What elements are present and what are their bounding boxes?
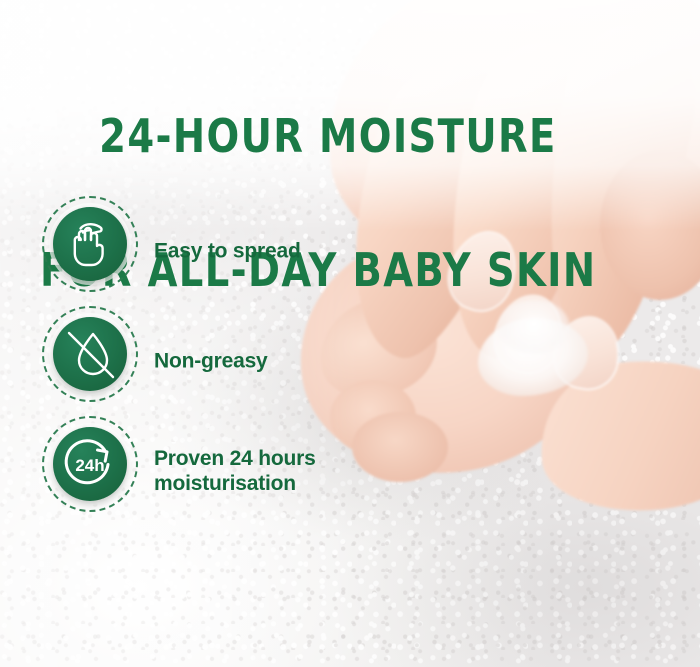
benefit-badge: 24h	[42, 416, 138, 512]
hand-spreading-cream-icon	[53, 207, 127, 281]
droplet-crossed-out-icon	[53, 317, 127, 391]
benefit-item-easy-to-spread: Easy to spread	[42, 196, 402, 306]
benefit-item-proven-24-hours: 24h Proven 24 hours moisturisation	[42, 416, 402, 526]
badge-24h-text: 24h	[75, 456, 104, 475]
benefit-badge	[42, 306, 138, 402]
benefit-badge	[42, 196, 138, 292]
benefit-item-non-greasy: Non-greasy	[42, 306, 402, 416]
benefit-label: Non-greasy	[154, 349, 268, 374]
benefit-label: Proven 24 hours moisturisation	[154, 446, 316, 496]
benefit-list: Easy to spread Non-greasy	[42, 196, 402, 526]
benefit-label: Easy to spread	[154, 239, 301, 264]
headline-line-1: 24-HOUR MOISTURE	[99, 109, 557, 163]
promotional-banner: 24-HOUR MOISTURE FOR ALL-DAY BABY SKIN	[0, 0, 700, 667]
clock-arrow-24h-icon: 24h	[53, 427, 127, 501]
